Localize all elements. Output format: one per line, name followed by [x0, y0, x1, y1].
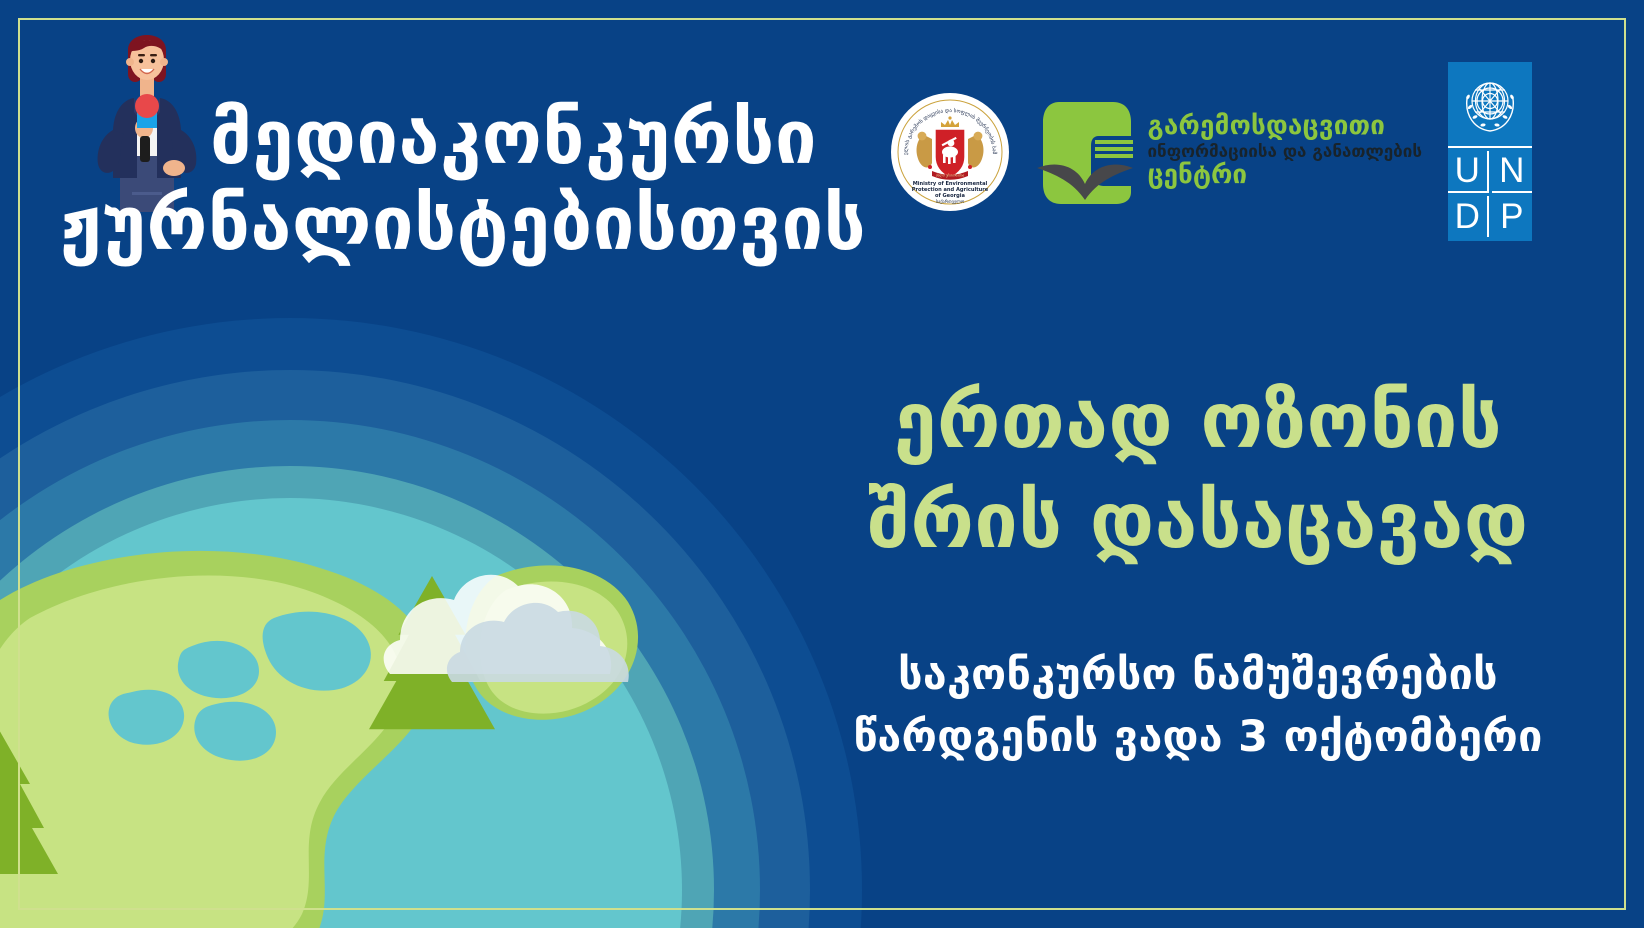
undp-letter-d: D — [1448, 196, 1489, 238]
eiec-mark-icon — [1035, 96, 1137, 208]
eiec-line-3: ცენტრი — [1147, 162, 1422, 190]
poster-canvas: მედიაკონკურსი ჟურნალისტებისთვის საქართვე… — [0, 0, 1644, 928]
svg-text:საქართველო: საქართველო — [936, 198, 965, 205]
undp-letter-n: N — [1492, 151, 1533, 193]
eiec-line-2: ინფორმაციისა და განათლების — [1147, 143, 1422, 161]
undp-logo: U N D P — [1448, 62, 1532, 241]
main-message: ერთად ოზონის შრის დასაცავად საკონკურსო ნ… — [848, 372, 1548, 766]
undp-letter-u: U — [1448, 151, 1489, 193]
deadline-line-1: საკონკურსო ნამუშევრების — [848, 648, 1548, 704]
svg-text:ძალა ერთობაშია: ძალა ერთობაშია — [936, 173, 965, 177]
ministry-seal-logo: საქართველოს გარემოს დაცვისა და სოფლის მე… — [891, 93, 1009, 211]
title-line-2: ჟურნალისტებისთვის — [60, 182, 800, 268]
undp-letter-p: P — [1492, 196, 1533, 238]
page-title: მედიაკონკურსი ჟურნალისტებისთვის — [60, 96, 800, 268]
deadline-line-2: წარდგენის ვადა 3 ოქტომბერი — [848, 710, 1548, 766]
headline-line-2: შრის დასაცავად — [848, 472, 1548, 572]
globe-illustration — [0, 300, 880, 928]
un-emblem-icon — [1448, 62, 1532, 146]
headline-line-1: ერთად ოზონის — [848, 372, 1548, 472]
svg-text:of Georgia: of Georgia — [935, 193, 966, 199]
undp-letter-grid: U N D P — [1448, 148, 1532, 241]
eiec-wordmark: გარემოსდაცვითი ინფორმაციისა და განათლები… — [1147, 113, 1422, 189]
title-line-1: მედიაკონკურსი — [60, 96, 800, 182]
environmental-info-education-centre-logo: გარემოსდაცვითი ინფორმაციისა და განათლები… — [1035, 96, 1422, 208]
eiec-line-1: გარემოსდაცვითი — [1147, 113, 1422, 141]
logo-row: საქართველოს გარემოს დაცვისა და სოფლის მე… — [891, 62, 1532, 241]
